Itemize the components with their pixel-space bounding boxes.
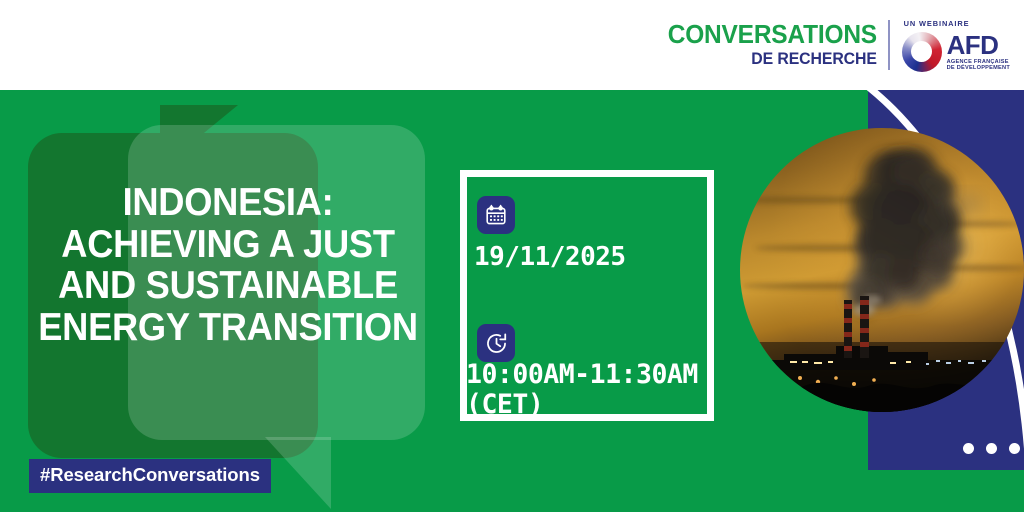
dot-3 bbox=[1009, 443, 1020, 454]
afd-acronym: AFD bbox=[947, 32, 1010, 58]
afd-logo-row: AFD AGENCE FRANÇAISE DE DÉVELOPPEMENT bbox=[902, 32, 1010, 72]
light-bubble-tail bbox=[265, 437, 331, 509]
hashtag-badge: #ResearchConversations bbox=[29, 459, 271, 493]
dot-2 bbox=[986, 443, 997, 454]
de-recherche-wordmark: DE RECHERCHE bbox=[751, 51, 877, 68]
afd-ring-icon bbox=[902, 32, 942, 72]
power-plant-photo bbox=[740, 128, 1024, 412]
page-title: INDONESIA: ACHIEVING A JUST AND SUSTAINA… bbox=[31, 182, 425, 348]
logo-divider bbox=[888, 20, 890, 70]
afd-logo: UN WEBINAIRE AFD AGENCE FRANÇAISE DE DÉV… bbox=[902, 19, 1010, 72]
afd-tagline-line2: DE DÉVELOPPEMENT bbox=[947, 66, 1010, 72]
dots-decoration bbox=[963, 441, 1021, 455]
event-date: 19/11/2025 bbox=[474, 243, 626, 272]
afd-text-block: AFD AGENCE FRANÇAISE DE DÉVELOPPEMENT bbox=[947, 32, 1010, 71]
event-time: 10:00AM-11:30AM (CET) bbox=[466, 360, 726, 419]
header-bar: CONVERSATIONS DE RECHERCHE UN WEBINAIRE … bbox=[0, 0, 1024, 90]
logo-lockup: CONVERSATIONS DE RECHERCHE UN WEBINAIRE … bbox=[659, 14, 1010, 76]
clock-rotate-icon bbox=[477, 324, 515, 362]
calendar-icon bbox=[477, 196, 515, 234]
dot-1 bbox=[963, 443, 974, 454]
webinar-label: UN WEBINAIRE bbox=[904, 19, 970, 28]
webinar-promo-banner: INDONESIA: ACHIEVING A JUST AND SUSTAINA… bbox=[0, 0, 1024, 512]
conversations-wordmark: CONVERSATIONS bbox=[667, 23, 876, 49]
conversations-de-recherche-logo: CONVERSATIONS DE RECHERCHE bbox=[659, 23, 888, 68]
